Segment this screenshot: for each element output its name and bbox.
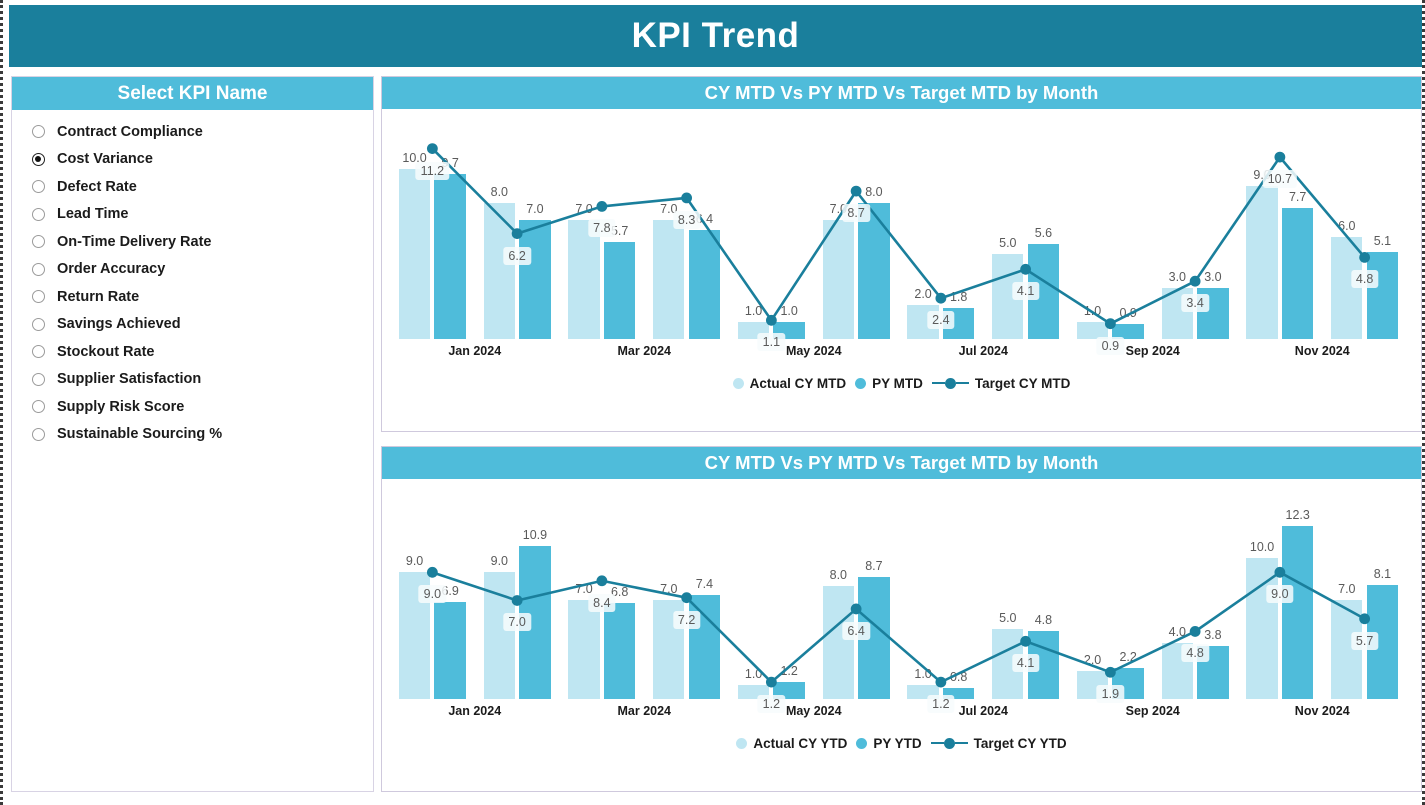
target-value-label: 5.7 (1351, 632, 1378, 650)
radio-unselected-icon[interactable] (32, 125, 45, 138)
chart-legend: Actual CY YTDPY YTDTarget CY YTD (382, 732, 1421, 754)
radio-unselected-icon[interactable] (32, 263, 45, 276)
kpi-option-sustainable-sourcing[interactable]: Sustainable Sourcing % (12, 421, 373, 449)
radio-unselected-icon[interactable] (32, 290, 45, 303)
legend-label: PY MTD (872, 376, 923, 391)
chart-legend: Actual CY MTDPY MTDTarget CY MTD (382, 372, 1421, 394)
kpi-option-label: Stockout Rate (57, 344, 155, 360)
x-axis-tick-label: Mar 2024 (617, 704, 671, 718)
target-point (766, 315, 777, 326)
kpi-option-label: Defect Rate (57, 179, 137, 195)
x-axis-tick-label: Sep 2024 (1126, 344, 1180, 358)
target-value-label: 7.2 (673, 611, 700, 629)
chart-plot-ytd: 9.06.99.010.97.06.87.07.41.01.28.08.71.0… (382, 479, 1421, 749)
target-point (1359, 252, 1370, 263)
target-value-label: 6.2 (503, 247, 530, 265)
target-value-label: 8.7 (842, 204, 869, 222)
target-point (1274, 567, 1285, 578)
page-title: KPI Trend (632, 16, 800, 56)
legend-item-py[interactable]: PY MTD (855, 376, 923, 391)
x-axis: Jan 2024Mar 2024May 2024Jul 2024Sep 2024… (382, 704, 1421, 730)
plot-area: 10.09.78.07.07.05.77.06.41.01.07.08.02.0… (382, 109, 1421, 389)
target-value-label: 6.4 (842, 622, 869, 640)
legend-item-target[interactable]: Target CY MTD (932, 376, 1071, 391)
target-value-label: 8.3 (673, 211, 700, 229)
kpi-option-supply-risk-score[interactable]: Supply Risk Score (12, 393, 373, 421)
plot-area: 9.06.99.010.97.06.87.07.41.01.28.08.71.0… (382, 479, 1421, 749)
x-axis-tick-label: Nov 2024 (1295, 704, 1350, 718)
x-axis-tick-label: Jul 2024 (959, 704, 1008, 718)
chart-title-ytd: CY MTD Vs PY MTD Vs Target MTD by Month (705, 452, 1099, 474)
target-point (851, 186, 862, 197)
radio-unselected-icon[interactable] (32, 428, 45, 441)
target-value-label: 4.8 (1351, 270, 1378, 288)
target-value-label: 10.7 (1263, 170, 1297, 188)
kpi-option-label: Lead Time (57, 206, 128, 222)
kpi-option-lead-time[interactable]: Lead Time (12, 201, 373, 229)
target-point (1105, 318, 1116, 329)
target-value-label: 9.0 (419, 585, 446, 603)
legend-label: Actual CY MTD (750, 376, 847, 391)
legend-dot-icon (856, 738, 867, 749)
legend-label: Target CY YTD (974, 736, 1067, 751)
target-point (681, 592, 692, 603)
target-value-label: 3.4 (1181, 294, 1208, 312)
kpi-option-savings-achieved[interactable]: Savings Achieved (12, 311, 373, 339)
target-value-label: 4.1 (1012, 282, 1039, 300)
target-point (512, 228, 523, 239)
target-point (935, 293, 946, 304)
target-point (1359, 613, 1370, 624)
kpi-option-on-time-delivery-rate[interactable]: On-Time Delivery Rate (12, 228, 373, 256)
target-value-label: 7.0 (503, 613, 530, 631)
legend-label: PY YTD (873, 736, 921, 751)
kpi-option-defect-rate[interactable]: Defect Rate (12, 173, 373, 201)
target-value-label: 4.1 (1012, 654, 1039, 672)
kpi-selector-panel: Select KPI Name Contract ComplianceCost … (11, 76, 374, 792)
x-axis-tick-label: May 2024 (786, 704, 842, 718)
radio-unselected-icon[interactable] (32, 235, 45, 248)
radio-unselected-icon[interactable] (32, 318, 45, 331)
legend-dot-icon (736, 738, 747, 749)
legend-line-marker-icon (932, 378, 969, 389)
target-value-label: 1.9 (1097, 685, 1124, 703)
radio-selected-icon[interactable] (32, 153, 45, 166)
legend-item-actual[interactable]: Actual CY MTD (733, 376, 847, 391)
kpi-selector-title: Select KPI Name (118, 83, 268, 105)
legend-line-marker-icon (931, 738, 968, 749)
target-point (1274, 152, 1285, 163)
x-axis-tick-label: May 2024 (786, 344, 842, 358)
legend-dot-icon (733, 378, 744, 389)
target-point (681, 193, 692, 204)
radio-unselected-icon[interactable] (32, 345, 45, 358)
radio-unselected-icon[interactable] (32, 400, 45, 413)
target-value-label: 4.8 (1181, 644, 1208, 662)
x-axis-tick-label: Nov 2024 (1295, 344, 1350, 358)
app-header: KPI Trend (9, 5, 1422, 67)
radio-unselected-icon[interactable] (32, 180, 45, 193)
x-axis-tick-label: Jan 2024 (448, 704, 501, 718)
kpi-option-label: Supply Risk Score (57, 399, 184, 415)
kpi-option-label: Return Rate (57, 289, 139, 305)
x-axis: Jan 2024Mar 2024May 2024Jul 2024Sep 2024… (382, 344, 1421, 370)
target-point (851, 604, 862, 615)
target-point (596, 201, 607, 212)
kpi-option-order-accuracy[interactable]: Order Accuracy (12, 256, 373, 284)
kpi-selector-header: Select KPI Name (12, 77, 373, 110)
radio-unselected-icon[interactable] (32, 373, 45, 386)
target-point (596, 575, 607, 586)
target-point (935, 677, 946, 688)
target-point (427, 567, 438, 578)
kpi-option-label: On-Time Delivery Rate (57, 234, 211, 250)
chart-panel-mtd: CY MTD Vs PY MTD Vs Target MTD by Month … (381, 76, 1422, 432)
target-point (1190, 626, 1201, 637)
x-axis-tick-label: Sep 2024 (1126, 704, 1180, 718)
target-point (1105, 667, 1116, 678)
target-point (766, 677, 777, 688)
kpi-option-label: Supplier Satisfaction (57, 371, 201, 387)
kpi-option-label: Cost Variance (57, 151, 153, 167)
x-axis-tick-label: Jul 2024 (959, 344, 1008, 358)
target-value-label: 7.8 (588, 219, 615, 237)
target-point (512, 595, 523, 606)
target-value-label: 2.4 (927, 311, 954, 329)
legend-item-target[interactable]: Target CY YTD (931, 736, 1067, 751)
target-point (1020, 264, 1031, 275)
target-point (427, 143, 438, 154)
radio-unselected-icon[interactable] (32, 208, 45, 221)
kpi-option-label: Savings Achieved (57, 316, 181, 332)
target-point (1020, 636, 1031, 647)
kpi-option-return-rate[interactable]: Return Rate (12, 283, 373, 311)
target-value-label: 8.4 (588, 594, 615, 612)
chart-plot-mtd: 10.09.78.07.07.05.77.06.41.01.07.08.02.0… (382, 109, 1421, 389)
legend-item-py[interactable]: PY YTD (856, 736, 921, 751)
legend-dot-icon (855, 378, 866, 389)
chart-header-mtd: CY MTD Vs PY MTD Vs Target MTD by Month (382, 77, 1421, 109)
kpi-trend-dashboard: KPI Trend Select KPI Name Contract Compl… (3, 0, 1425, 805)
chart-panel-ytd: CY MTD Vs PY MTD Vs Target MTD by Month … (381, 446, 1422, 792)
kpi-option-label: Sustainable Sourcing % (57, 426, 222, 442)
chart-title-mtd: CY MTD Vs PY MTD Vs Target MTD by Month (705, 82, 1099, 104)
legend-item-actual[interactable]: Actual CY YTD (736, 736, 847, 751)
chart-header-ytd: CY MTD Vs PY MTD Vs Target MTD by Month (382, 447, 1421, 479)
target-value-label: 11.2 (416, 162, 449, 180)
kpi-option-supplier-satisfaction[interactable]: Supplier Satisfaction (12, 366, 373, 394)
kpi-radio-list: Contract ComplianceCost VarianceDefect R… (12, 110, 373, 448)
legend-label: Target CY MTD (975, 376, 1071, 391)
legend-label: Actual CY YTD (753, 736, 847, 751)
x-axis-tick-label: Mar 2024 (617, 344, 671, 358)
kpi-option-label: Order Accuracy (57, 261, 165, 277)
x-axis-tick-label: Jan 2024 (448, 344, 501, 358)
target-point (1190, 276, 1201, 287)
kpi-option-contract-compliance[interactable]: Contract Compliance (12, 118, 373, 146)
kpi-option-stockout-rate[interactable]: Stockout Rate (12, 338, 373, 366)
kpi-option-label: Contract Compliance (57, 124, 203, 140)
target-value-label: 9.0 (1266, 585, 1293, 603)
kpi-option-cost-variance[interactable]: Cost Variance (12, 146, 373, 174)
